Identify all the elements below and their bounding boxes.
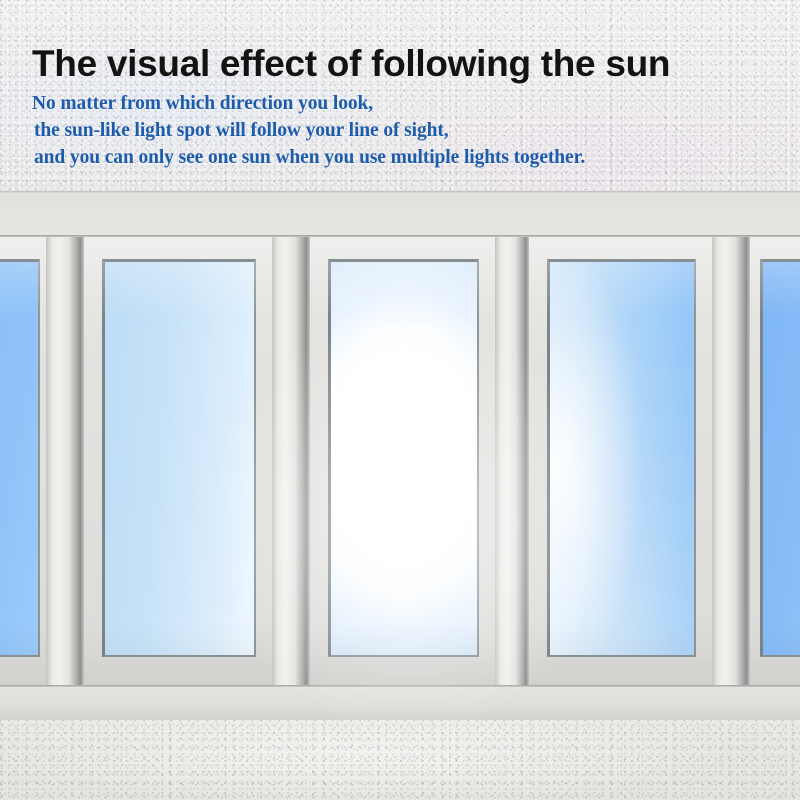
glass-well-2 [102, 259, 256, 657]
mullion-1 [46, 237, 86, 686]
page-title: The visual effect of following the sun [32, 42, 780, 86]
window-assembly [0, 193, 800, 720]
window-pane-3-center [310, 237, 497, 686]
product-feature-image: The visual effect of following the sun N… [0, 0, 800, 800]
glass-well-5 [760, 259, 800, 657]
glass-1 [0, 262, 38, 655]
window-sill [0, 687, 800, 720]
glass-2 [105, 262, 254, 655]
glass-3-sun-spot [331, 262, 477, 655]
mullion-3 [495, 237, 531, 686]
subtitle-line-1: No matter from which direction you look, [32, 90, 780, 117]
lower-stucco-wall [0, 720, 800, 800]
window-pane-5-partial [750, 237, 800, 686]
header-text-block: The visual effect of following the sun N… [32, 42, 780, 171]
subtitle-line-3: and you can only see one sun when you us… [32, 144, 780, 171]
lower-wall-grain-texture [0, 720, 800, 800]
window-pane-4 [529, 237, 714, 686]
glass-well-3 [328, 259, 479, 657]
glass-5 [763, 262, 800, 655]
glass-well-1 [0, 259, 40, 657]
mullion-2 [272, 237, 312, 686]
window-pane-1-partial [0, 237, 50, 686]
glass-well-4 [547, 259, 696, 657]
subtitle-line-2: the sun-like light spot will follow your… [32, 117, 780, 144]
window-pane-2 [84, 237, 274, 686]
header-banner: The visual effect of following the sun N… [0, 0, 800, 193]
glass-4 [550, 262, 694, 655]
mullion-4 [712, 237, 752, 686]
